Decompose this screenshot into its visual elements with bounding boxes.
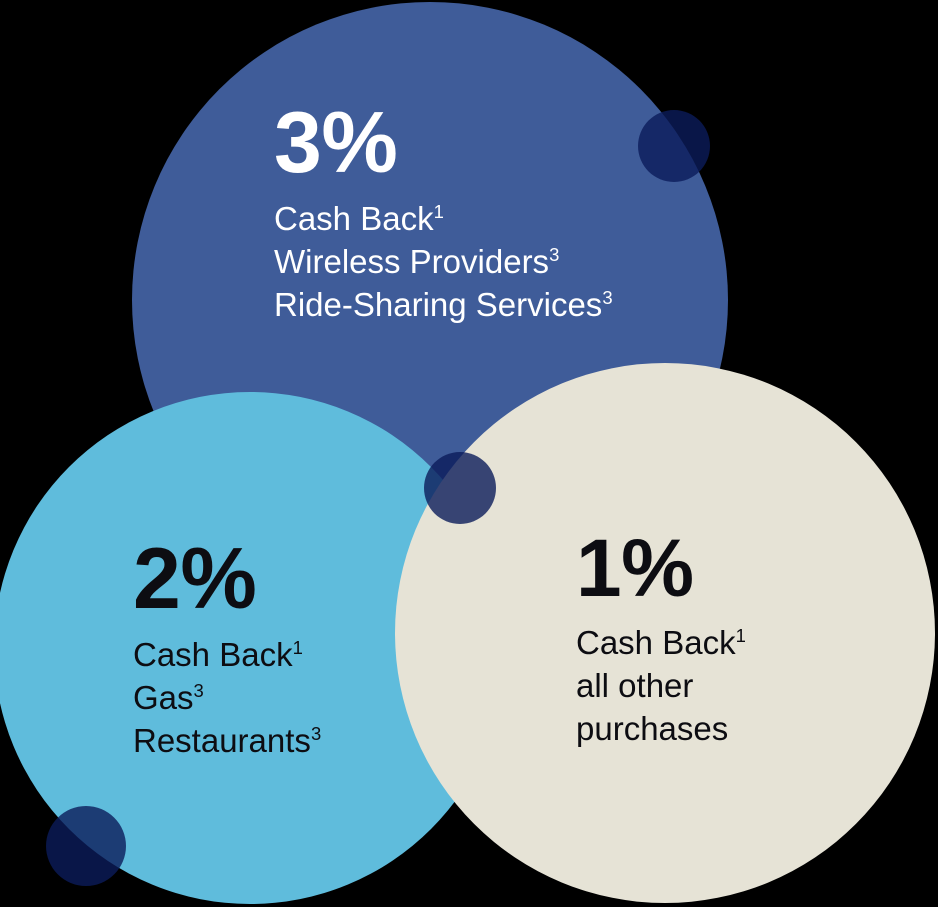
tier-1-line-2: all other: [576, 665, 746, 708]
tier-2-line-3-footnote: 3: [311, 723, 321, 744]
tier-3-line-1: Cash Back1: [274, 198, 613, 241]
tier-1-description: Cash Back1 all other purchases: [576, 622, 746, 751]
tier-1-content: 1% Cash Back1 all other purchases: [576, 528, 746, 751]
accent-dot-middle-icon: [424, 452, 496, 524]
tier-3-description: Cash Back1 Wireless Providers3 Ride-Shar…: [274, 198, 613, 327]
tier-2-line-1-footnote: 1: [293, 637, 303, 658]
tier-2-line-1-text: Cash Back: [133, 636, 293, 673]
tier-1-line-3: purchases: [576, 708, 746, 751]
tier-1-line-1-footnote: 1: [736, 625, 746, 646]
tier-3-line-1-text: Cash Back: [274, 200, 434, 237]
tier-3-line-3-text: Ride-Sharing Services: [274, 286, 602, 323]
tier-3-line-2: Wireless Providers3: [274, 241, 613, 284]
tier-3-line-1-footnote: 1: [434, 201, 444, 222]
tier-2-line-2-text: Gas: [133, 679, 194, 716]
tier-2-percent-label: 2%: [133, 536, 321, 622]
tier-2-line-2-footnote: 3: [194, 680, 204, 701]
tier-1-percent-label: 1%: [576, 528, 746, 610]
tier-1-line-1: Cash Back1: [576, 622, 746, 665]
tier-2-description: Cash Back1 Gas3 Restaurants3: [133, 634, 321, 763]
cash-back-bubble-diagram: 3% Cash Back1 Wireless Providers3 Ride-S…: [0, 0, 938, 907]
tier-3-content: 3% Cash Back1 Wireless Providers3 Ride-S…: [274, 100, 613, 327]
tier-2-content: 2% Cash Back1 Gas3 Restaurants3: [133, 536, 321, 763]
tier-3-line-2-footnote: 3: [549, 244, 559, 265]
tier-2-line-1: Cash Back1: [133, 634, 321, 677]
accent-dot-bottom-left-icon: [46, 806, 126, 886]
tier-3-line-3-footnote: 3: [602, 287, 612, 308]
tier-1-line-2-text: all other: [576, 667, 693, 704]
tier-2-line-3: Restaurants3: [133, 720, 321, 763]
tier-3-line-2-text: Wireless Providers: [274, 243, 549, 280]
tier-2-line-2: Gas3: [133, 677, 321, 720]
tier-1-line-3-text: purchases: [576, 710, 728, 747]
tier-3-line-3: Ride-Sharing Services3: [274, 284, 613, 327]
accent-dot-top-right-icon: [638, 110, 710, 182]
tier-1-line-1-text: Cash Back: [576, 624, 736, 661]
tier-3-percent-label: 3%: [274, 100, 613, 186]
tier-2-line-3-text: Restaurants: [133, 722, 311, 759]
